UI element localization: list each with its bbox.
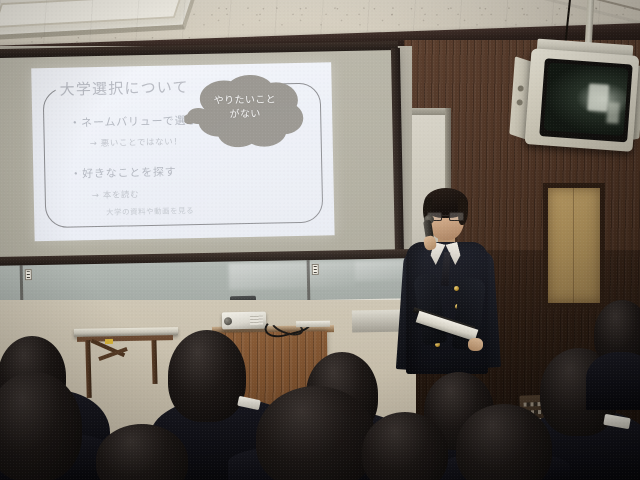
projector-vent (250, 316, 263, 325)
tv-bezel (539, 58, 632, 142)
ceiling-light-diffuser (0, 0, 183, 28)
presenter-hand-holding-papers (468, 338, 483, 351)
ceiling-crt-television (525, 48, 640, 152)
projection-screen: 大学選択について ・ネームバリューで選ぶ → 悪いことではない！ ・好きなことを… (0, 48, 402, 264)
thought-bubble: やりたいこと がない (183, 73, 307, 153)
thought-bubble-text: やりたいこと がない (184, 93, 307, 123)
audience-shoulders (586, 352, 640, 410)
tv-screen-glare-secondary (607, 102, 620, 123)
chalkboard-clip-right (312, 264, 319, 275)
projector (222, 312, 266, 330)
presenter (398, 182, 518, 372)
classroom-photo-scene: 大学選択について ・ネームバリューで選ぶ → 悪いことではない！ ・好きなことを… (0, 0, 640, 480)
ceiling-light-panel (0, 0, 199, 41)
paper-stack-on-podium (296, 321, 330, 328)
chalkboard-clip-left (25, 269, 32, 280)
folding-table-label (105, 339, 113, 344)
projected-slide: 大学選択について ・ネームバリューで選ぶ → 悪いことではない！ ・好きなことを… (31, 62, 334, 241)
slide-subpoint-2: → 本を読む (92, 188, 140, 201)
audience-head (256, 386, 376, 480)
thought-bubble-line-2: がない (184, 107, 306, 123)
slide-bullet-2: ・好きなことを探す (70, 163, 177, 181)
slide-subpoint-3: 大学の資料や動画を見る (106, 205, 194, 218)
bulletin-board (543, 183, 605, 308)
tv-screen-glare (587, 83, 610, 112)
tv-screen (544, 62, 629, 136)
projector-lens (224, 317, 232, 325)
slide-subpoint-1: → 悪いことではない！ (90, 135, 183, 149)
slide-bullet-1: ・ネームバリューで選ぶ (69, 112, 198, 131)
glasses-bridge (442, 215, 449, 216)
chalkboard-glare (229, 261, 355, 289)
glasses-lens-right (449, 212, 464, 221)
slide-title: 大学選択について (59, 76, 189, 100)
tv-case (525, 48, 640, 152)
audience-head (168, 330, 246, 422)
